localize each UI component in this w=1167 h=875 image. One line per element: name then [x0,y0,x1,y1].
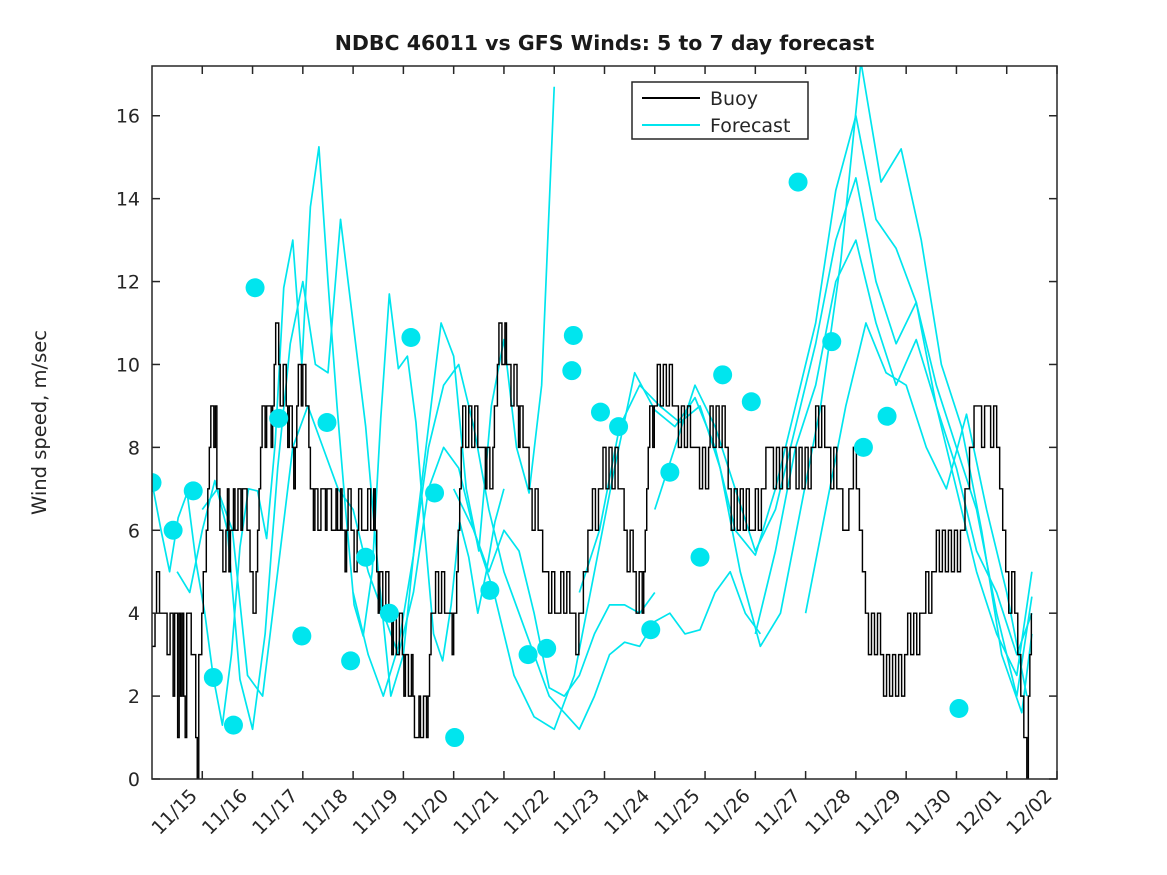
forecast-marker-32 [949,699,968,718]
y-tick-label-2: 2 [128,686,140,708]
forecast-marker-18 [562,361,581,380]
forecast-marker-21 [609,417,628,436]
forecast-marker-3 [204,668,223,687]
forecast-marker-24 [691,548,710,567]
legend-label-forecast: Forecast [710,115,790,137]
forecast-marker-11 [380,604,399,623]
figure-canvas: 024681012141611/1511/1611/1711/1811/1911… [0,0,1167,875]
forecast-marker-28 [789,173,808,192]
forecast-marker-9 [341,651,360,670]
forecast-marker-2 [184,481,203,500]
y-tick-label-12: 12 [116,272,140,294]
forecast-marker-7 [292,626,311,645]
forecast-marker-10 [356,548,375,567]
forecast-marker-16 [519,645,538,664]
forecast-marker-14 [445,728,464,747]
wind-speed-chart: 024681012141611/1511/1611/1711/1811/1911… [0,0,1167,875]
forecast-marker-5 [246,278,265,297]
forecast-marker-25 [713,365,732,384]
y-tick-label-16: 16 [116,106,140,128]
forecast-marker-29 [822,332,841,351]
y-axis-label: Wind speed, m/sec [28,330,51,515]
forecast-marker-19 [564,326,583,345]
forecast-marker-26 [742,392,761,411]
forecast-marker-8 [317,413,336,432]
chart-title: NDBC 46011 vs GFS Winds: 5 to 7 day fore… [335,31,875,55]
forecast-marker-17 [537,639,556,658]
chart-background [0,0,1167,875]
y-tick-label-6: 6 [128,520,140,542]
forecast-marker-4 [224,716,243,735]
forecast-marker-30 [854,438,873,457]
forecast-marker-12 [401,328,420,347]
forecast-marker-13 [425,483,444,502]
y-tick-label-14: 14 [116,189,140,211]
y-tick-label-4: 4 [128,603,140,625]
forecast-marker-15 [480,581,499,600]
y-tick-label-10: 10 [116,354,140,376]
legend-label-buoy: Buoy [710,88,758,110]
forecast-marker-31 [878,407,897,426]
forecast-marker-23 [660,463,679,482]
forecast-marker-20 [591,403,610,422]
y-tick-label-8: 8 [128,437,140,459]
forecast-marker-1 [164,521,183,540]
y-tick-label-0: 0 [128,769,140,791]
forecast-marker-22 [641,620,660,639]
forecast-marker-6 [269,409,288,428]
